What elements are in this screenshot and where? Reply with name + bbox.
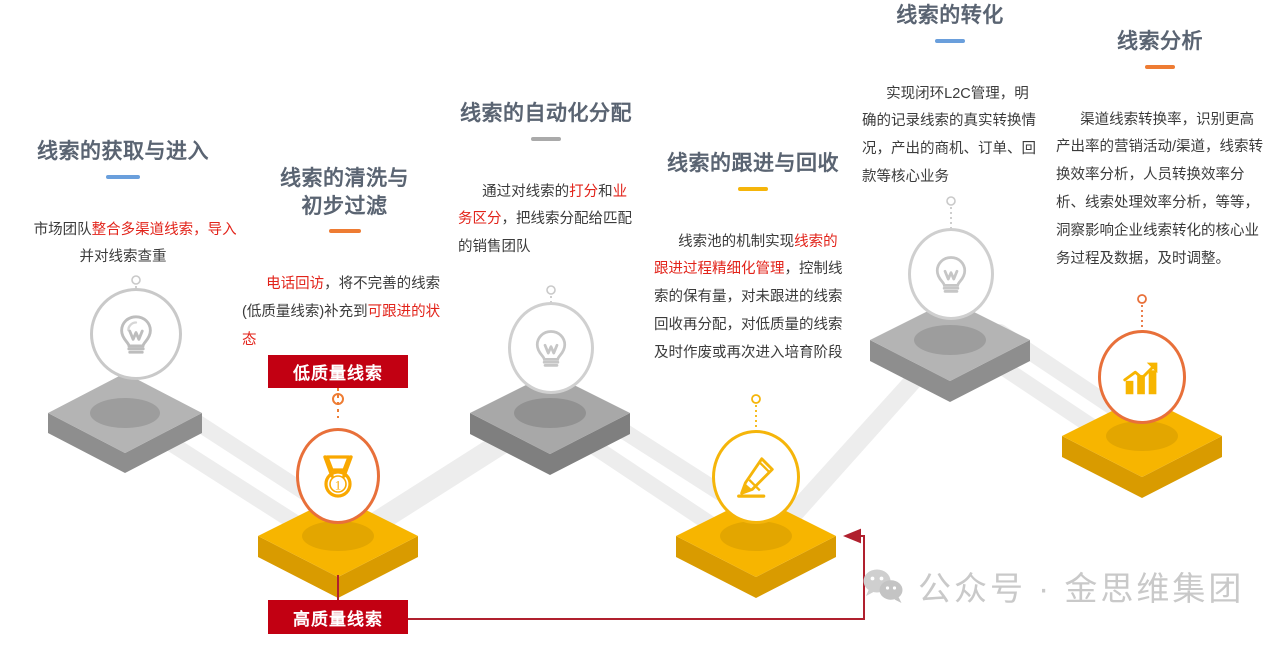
title-rule (935, 39, 965, 43)
step-body: 线索池的机制实现线索的跟进过程精细化管理，控制线索的保有量，对未跟进的线索回收再… (646, 201, 860, 396)
text-block-acquire: 线索的获取与进入 市场团队整合多渠道线索，导入并对线索查重 (8, 138, 238, 300)
step-body: 实现闭环L2C管理，明确的记录线索的真实转换情况，产出的商机、订单、回款等核心业… (848, 53, 1052, 220)
text-block-follow-recycle: 线索的跟进与回收 线索池的机制实现线索的跟进过程精细化管理，控制线索的保有量，对… (646, 150, 860, 396)
title-rule (531, 137, 561, 141)
wechat-icon (862, 568, 906, 604)
badge-low-quality[interactable]: 低质量线索 (268, 355, 408, 388)
title-rule (106, 175, 140, 179)
title-rule (738, 187, 768, 191)
infographic-canvas: 1 (0, 0, 1280, 648)
step-title: 线索的获取与进入 (8, 138, 238, 166)
text-block-auto-distribute: 线索的自动化分配 通过对线索的打分和业务区分，把线索分配给匹配的销售团队 (440, 100, 652, 290)
step-title: 线索的自动化分配 (440, 100, 652, 128)
title-rule (329, 229, 361, 233)
step-title: 线索的跟进与回收 (646, 150, 860, 178)
body-seg: 通过对线索的 (482, 184, 569, 200)
body-seg: 并对线索查重 (80, 249, 167, 265)
body-seg-highlight: 打分 (569, 184, 598, 200)
step-title: 线索的转化 (848, 2, 1052, 30)
step-body: 市场团队整合多渠道线索，导入并对线索查重 (8, 189, 238, 300)
watermark: 公众号 · 金思维集团 (862, 562, 1244, 610)
text-block-cleanse: 线索的清洗与 初步过滤 电话回访，将不完善的线索(低质量线索)补充到可跟进的状态 (242, 165, 447, 383)
step-body: 通过对线索的打分和业务区分，把线索分配给匹配的销售团队 (440, 151, 652, 290)
step-title: 线索分析 (1044, 28, 1276, 56)
text-block-conversion: 线索的转化 实现闭环L2C管理，明确的记录线索的真实转换情况，产出的商机、订单、… (848, 2, 1052, 220)
body-seg-highlight: 整合多渠道线索，导入 (92, 222, 237, 238)
body-seg-highlight: 电话回访 (266, 276, 324, 292)
step-body: 渠道线索转换率，识别更高产出率的营销活动/渠道，线索转换效率分析，人员转换效率分… (1044, 79, 1276, 302)
body-seg: 线索池的机制实现 (678, 234, 794, 250)
badge-high-quality[interactable]: 高质量线索 (268, 600, 408, 634)
step-title: 线索的清洗与 初步过滤 (242, 165, 447, 220)
text-block-analysis: 线索分析 渠道线索转换率，识别更高产出率的营销活动/渠道，线索转换效率分析，人员… (1044, 28, 1276, 301)
title-rule (1145, 65, 1175, 69)
body-seg: 实现闭环L2C管理，明确的记录线索的真实转换情况，产出的商机、订单、回款等核心业… (862, 86, 1036, 185)
body-seg: 渠道线索转换率，识别更高产出率的营销活动/渠道，线索转换效率分析，人员转换效率分… (1056, 112, 1263, 267)
body-seg: 市场团队 (34, 222, 92, 238)
watermark-text: 公众号 · 金思维集团 (918, 562, 1244, 610)
body-seg: 和 (598, 184, 613, 200)
